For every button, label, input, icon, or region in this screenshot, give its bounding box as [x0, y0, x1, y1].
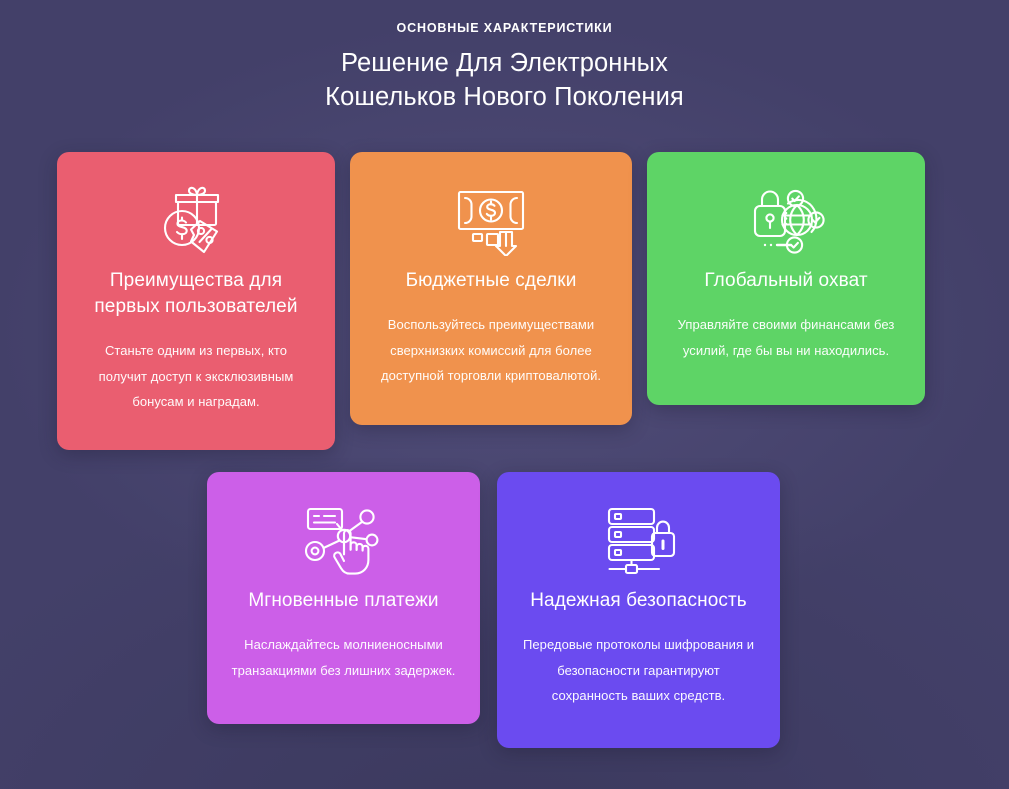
lock-globe-check-icon: [669, 182, 903, 258]
feature-card-instant-payments[interactable]: Мгновенные платежи Наслаждайтесь молниен…: [207, 472, 480, 724]
feature-card-description: Управляйте своими финансами без усилий, …: [669, 312, 903, 363]
feature-card-title: Преимущества для первых пользователей: [79, 268, 313, 320]
page-title-line-1: Решение Для Электронных: [0, 47, 1009, 81]
server-lock-icon: [519, 502, 758, 578]
feature-card-title: Глобальный охват: [669, 268, 903, 294]
page-title: Решение Для Электронных Кошельков Нового…: [0, 47, 1009, 115]
feature-card-budget-deals[interactable]: Бюджетные сделки Воспользуйтесь преимуще…: [350, 152, 632, 425]
feature-card-description: Наслаждайтесь молниеносными транзакциями…: [229, 632, 458, 683]
feature-card-reliable-security[interactable]: Надежная безопасность Передовые протокол…: [497, 472, 780, 748]
feature-card-description: Передовые протоколы шифрования и безопас…: [519, 632, 758, 708]
section-eyebrow-label: ОСНОВНЫЕ ХАРАКТЕРИСТИКИ: [0, 21, 1009, 35]
page-header: ОСНОВНЫЕ ХАРАКТЕРИСТИКИ Решение Для Элек…: [0, 0, 1009, 115]
features-page: ОСНОВНЫЕ ХАРАКТЕРИСТИКИ Решение Для Элек…: [0, 0, 1009, 789]
feature-card-description: Станьте одним из первых, кто получит дос…: [79, 338, 313, 414]
feature-card-global-reach[interactable]: Глобальный охват Управляйте своими финан…: [647, 152, 925, 405]
banknote-down-arrow-icon: [372, 182, 610, 258]
feature-card-title: Бюджетные сделки: [372, 268, 610, 294]
gift-coin-discount-icon: [79, 182, 313, 258]
feature-card-first-user-benefits[interactable]: Преимущества для первых пользователей Ст…: [57, 152, 335, 450]
feature-card-title: Мгновенные платежи: [229, 588, 458, 614]
page-title-line-2: Кошельков Нового Поколения: [0, 81, 1009, 115]
feature-card-title: Надежная безопасность: [519, 588, 758, 614]
hand-tap-network-icon: [229, 502, 458, 578]
feature-card-description: Воспользуйтесь преимуществами сверхнизки…: [372, 312, 610, 388]
